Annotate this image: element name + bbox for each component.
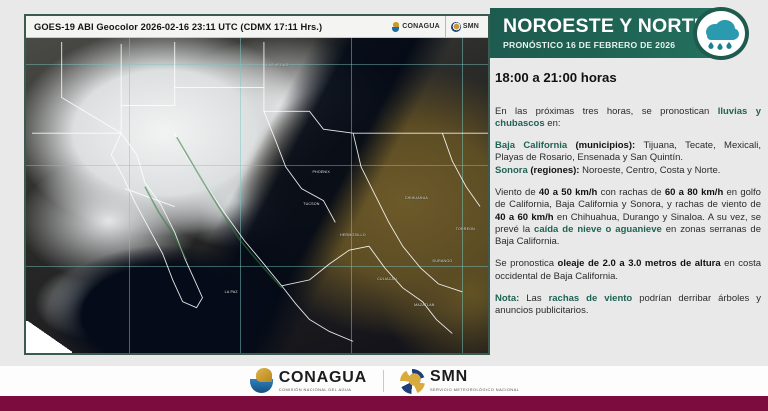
footer-divider: [383, 370, 384, 392]
map-city-label: TORREON: [456, 227, 475, 231]
snow-highlight: caída de nieve o aguanieve: [534, 224, 662, 235]
wind-text-1: Viento de: [495, 187, 539, 198]
wind-value-3: 40 a 60 km/h: [495, 212, 554, 223]
intro-text-a: En las próximas tres horas, se pronostic…: [495, 106, 718, 117]
footer-logos: CONAGUA COMISIÓN NACIONAL DEL AGUA SMN S…: [0, 366, 768, 396]
conagua-icon: [391, 22, 400, 32]
map-city-label: DURANGO: [433, 259, 453, 263]
footer-smn-name: SMN: [430, 369, 519, 385]
header-smn-label: SMN: [463, 23, 479, 30]
footer-conagua-text: CONAGUA COMISIÓN NACIONAL DEL AGUA: [279, 370, 367, 392]
forecast-body: En las próximas tres horas, se pronostic…: [495, 96, 761, 318]
rain-cloud-icon: [693, 7, 749, 60]
forecast-areas-paragraph: Baja California (municipios): Tijuana, T…: [495, 140, 761, 177]
footer-smn-sub: SERVICIO METEOROLÓGICO NACIONAL: [430, 387, 519, 393]
sonora-kind-label: (regiones):: [528, 165, 582, 176]
satellite-title: GOES-19 ABI Geocolor 2026-02-16 23:11 UT…: [30, 22, 386, 32]
wind-text-2: con rachas de: [597, 187, 665, 198]
map-city-label: CHIHUAHUA: [405, 196, 428, 200]
rain-cloud-glyph: [701, 15, 741, 53]
map-city-label: LA PAZ: [225, 290, 238, 294]
wind-value-1: 40 a 50 km/h: [539, 187, 597, 198]
header-conagua-label: CONAGUA: [402, 23, 440, 30]
satellite-imagery: LAS VEGAS PHOENIX TUCSON HERMOSILLO CHIH…: [26, 38, 488, 353]
bc-state-name: Baja California: [495, 140, 567, 151]
map-city-label: TUCSON: [303, 202, 319, 206]
map-corner-wedge: [26, 321, 72, 353]
map-city-label: PHOENIX: [312, 170, 330, 174]
footer-smn-logo: SMN SERVICIO METEOROLÓGICO NACIONAL: [400, 369, 519, 394]
smn-icon: [451, 22, 461, 32]
note-text-1: Las: [519, 293, 548, 304]
forecast-intro-paragraph: En las próximas tres horas, se pronostic…: [495, 106, 761, 131]
footer-conagua-name: CONAGUA: [279, 370, 367, 386]
intro-text-b: en:: [545, 118, 561, 129]
footer-smn-text: SMN SERVICIO METEOROLÓGICO NACIONAL: [430, 369, 519, 393]
forecast-wind-paragraph: Viento de 40 a 50 km/h con rachas de 60 …: [495, 187, 761, 248]
sonora-region-list: Noroeste, Centro, Costa y Norte.: [582, 165, 720, 176]
forecast-panel: NOROESTE Y NORTE PRONÓSTICO 16 DE FEBRER…: [490, 0, 768, 366]
header-conagua-logo: CONAGUA: [386, 16, 445, 37]
conagua-icon: [249, 368, 274, 394]
map-city-label: HERMOSILLO: [340, 233, 366, 237]
forecast-swell-paragraph: Se pronostica oleaje de 2.0 a 3.0 metros…: [495, 258, 761, 283]
note-highlight: rachas de viento: [549, 293, 633, 304]
note-label: Nota:: [495, 293, 519, 304]
forecast-note-paragraph: Nota: Las rachas de viento podrían derri…: [495, 293, 761, 318]
satellite-header: GOES-19 ABI Geocolor 2026-02-16 23:11 UT…: [26, 16, 488, 38]
map-city-label: LAS VEGAS: [266, 63, 288, 67]
smn-icon: [400, 369, 425, 394]
header-smn-logo: SMN: [445, 16, 484, 37]
sonora-state-name: Sonora: [495, 165, 528, 176]
swell-value: oleaje de 2.0 a 3.0 metros de altura: [558, 258, 721, 269]
forecast-hours: 18:00 a 21:00 horas: [495, 70, 617, 85]
swell-text-1: Se pronostica: [495, 258, 558, 269]
bottom-accent-bar: [0, 396, 768, 411]
map-city-label: CULIACAN: [377, 277, 397, 281]
bc-kind-label: (municipios):: [567, 140, 643, 151]
footer-conagua-sub: COMISIÓN NACIONAL DEL AGUA: [279, 388, 367, 392]
map-city-label: MAZATLAN: [414, 303, 435, 307]
footer-conagua-logo: CONAGUA COMISIÓN NACIONAL DEL AGUA: [249, 368, 367, 394]
satellite-image-panel: GOES-19 ABI Geocolor 2026-02-16 23:11 UT…: [24, 14, 490, 355]
wind-value-2: 60 a 80 km/h: [665, 187, 723, 198]
